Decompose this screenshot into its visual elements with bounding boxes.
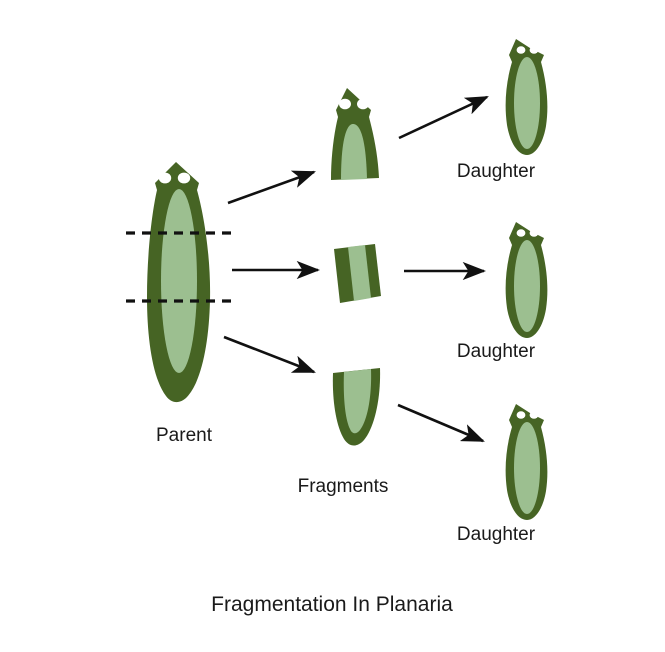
label-fragments: Fragments [298,476,389,497]
daughter-bottom-eye-right [530,411,539,419]
daughter-top-eye-left [517,46,526,54]
fragmentation-diagram: Parent Fragments Daughter Daughter Daugh… [0,0,665,652]
label-daughter-middle: Daughter [457,341,536,362]
daughter-middle [506,222,548,338]
daughter-middle-gut [514,240,540,332]
daughter-bottom [506,404,548,520]
head-fragment [331,88,379,180]
tail-fragment [333,368,380,446]
parent-organism [147,162,210,402]
arrow-parent-to-head-fragment [228,172,314,203]
parent-eye-right [178,173,190,184]
diagram-canvas: Parent Fragments Daughter Daughter Daugh… [0,0,665,652]
label-daughter-bottom: Daughter [457,524,536,545]
daughter-middle-eye-left [517,229,526,237]
arrow-head-fragment-to-daughter [399,97,487,138]
daughter-top-eye-right [530,46,539,54]
label-parent: Parent [156,425,213,446]
head-fragment-eye-right [357,99,369,110]
arrow-tail-fragment-to-daughter [398,405,483,441]
diagram-title: Fragmentation In Planaria [211,593,453,616]
daughter-top-gut [514,57,540,149]
head-fragment-eye-left [339,99,351,110]
parent-eye-left [159,173,171,184]
arrow-parent-to-tail-fragment [224,337,314,372]
daughter-top [506,39,548,155]
label-daughter-top: Daughter [457,161,536,182]
daughter-bottom-gut [514,422,540,514]
middle-fragment [334,244,381,303]
parent-gut [161,189,197,373]
daughter-middle-eye-right [530,229,539,237]
daughter-bottom-eye-left [517,411,526,419]
